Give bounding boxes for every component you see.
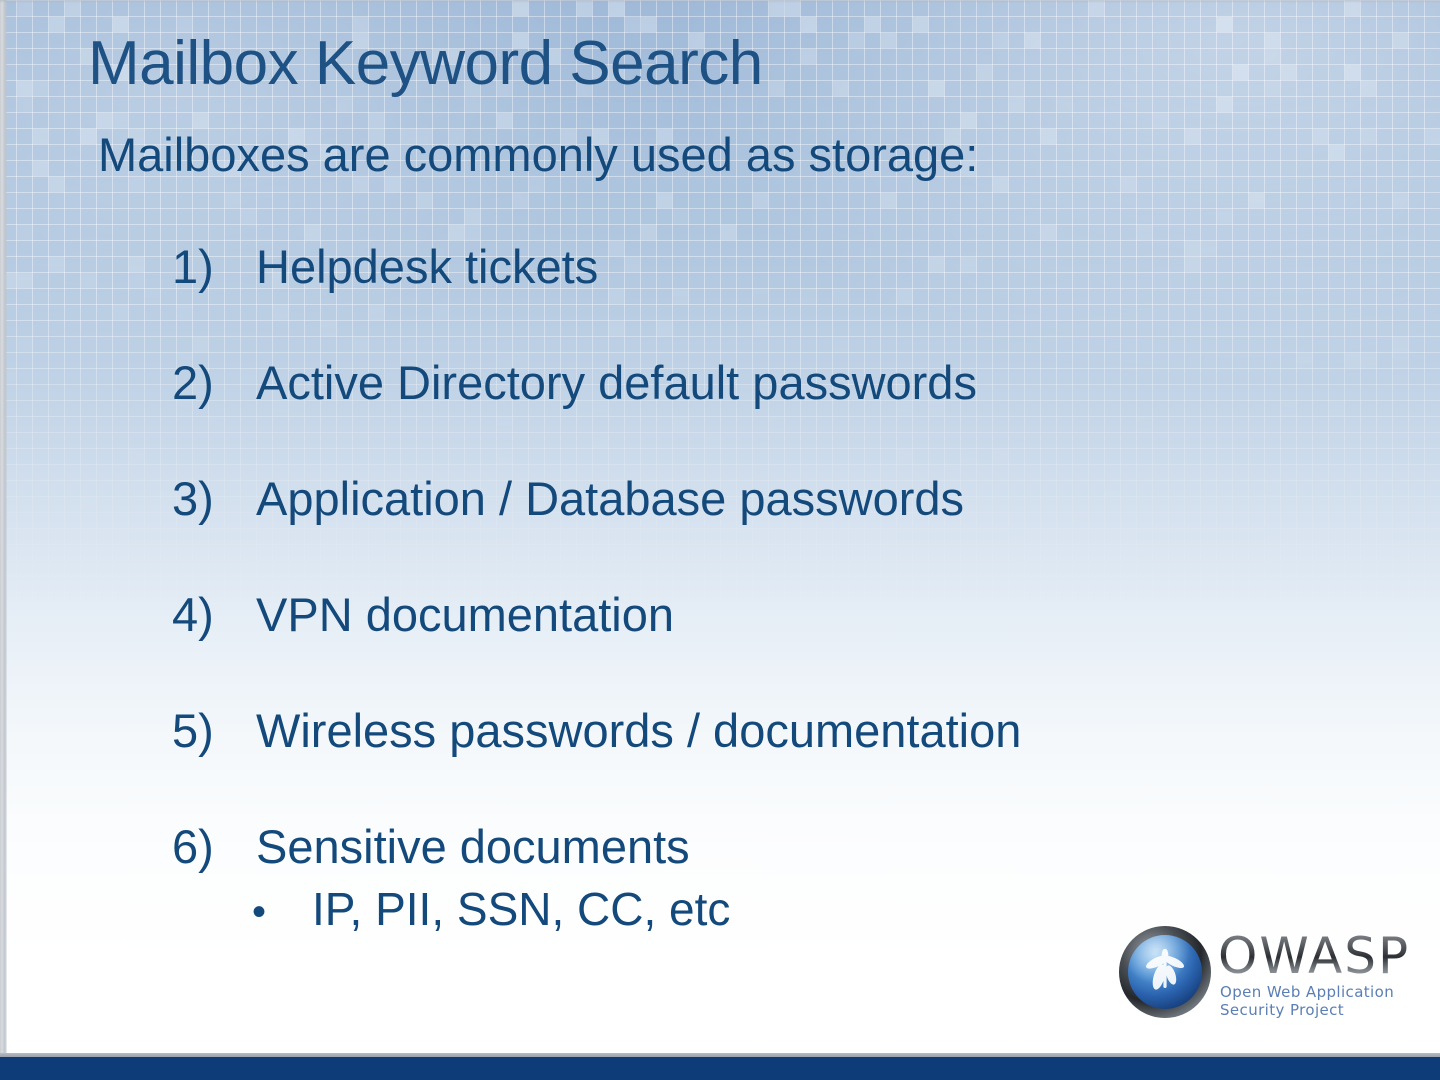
list-item-label: Sensitive documents	[256, 818, 690, 876]
presentation-slide: Mailbox Keyword Search Mailboxes are com…	[0, 0, 1440, 1080]
list-item: 5) Wireless passwords / documentation	[172, 702, 1402, 818]
list-item-label: Wireless passwords / documentation	[256, 702, 1021, 760]
slide-top-edge-bevel	[0, 0, 1440, 3]
list-item: 6) Sensitive documents	[172, 818, 1402, 880]
list-item-number: 3)	[172, 470, 256, 528]
sub-list-item-label: IP, PII, SSN, CC, etc	[312, 880, 730, 938]
list-item-label: VPN documentation	[256, 586, 674, 644]
bullet-icon: •	[246, 883, 312, 941]
list-item-number: 6)	[172, 818, 256, 876]
list-item-number: 4)	[172, 586, 256, 644]
slide-left-edge-bevel	[0, 0, 7, 1058]
slide-title: Mailbox Keyword Search	[88, 26, 763, 102]
owasp-tagline-line2: Security Project	[1220, 1001, 1394, 1019]
slide-subtitle: Mailboxes are commonly used as storage:	[98, 124, 978, 186]
list-item: 4) VPN documentation	[172, 586, 1402, 702]
list-item-label: Application / Database passwords	[256, 470, 964, 528]
list-item-label: Active Directory default passwords	[256, 354, 977, 412]
owasp-tagline: Open Web Application Security Project	[1220, 983, 1394, 1019]
owasp-globe-dragonfly-icon	[1118, 925, 1212, 1019]
list-item-number: 1)	[172, 238, 256, 296]
list-item: 1) Helpdesk tickets	[172, 238, 1402, 354]
numbered-list: 1) Helpdesk tickets 2) Active Directory …	[172, 238, 1402, 941]
owasp-wordmark: OWASP	[1218, 929, 1410, 983]
list-item-number: 2)	[172, 354, 256, 412]
list-item-number: 5)	[172, 702, 256, 760]
list-item: 2) Active Directory default passwords	[172, 354, 1402, 470]
list-item-label: Helpdesk tickets	[256, 238, 598, 296]
footer-bar	[0, 1057, 1440, 1080]
list-item: 3) Application / Database passwords	[172, 470, 1402, 586]
owasp-tagline-line1: Open Web Application	[1220, 983, 1394, 1001]
owasp-logo: OWASP Open Web Application Security Proj…	[1118, 925, 1396, 1025]
